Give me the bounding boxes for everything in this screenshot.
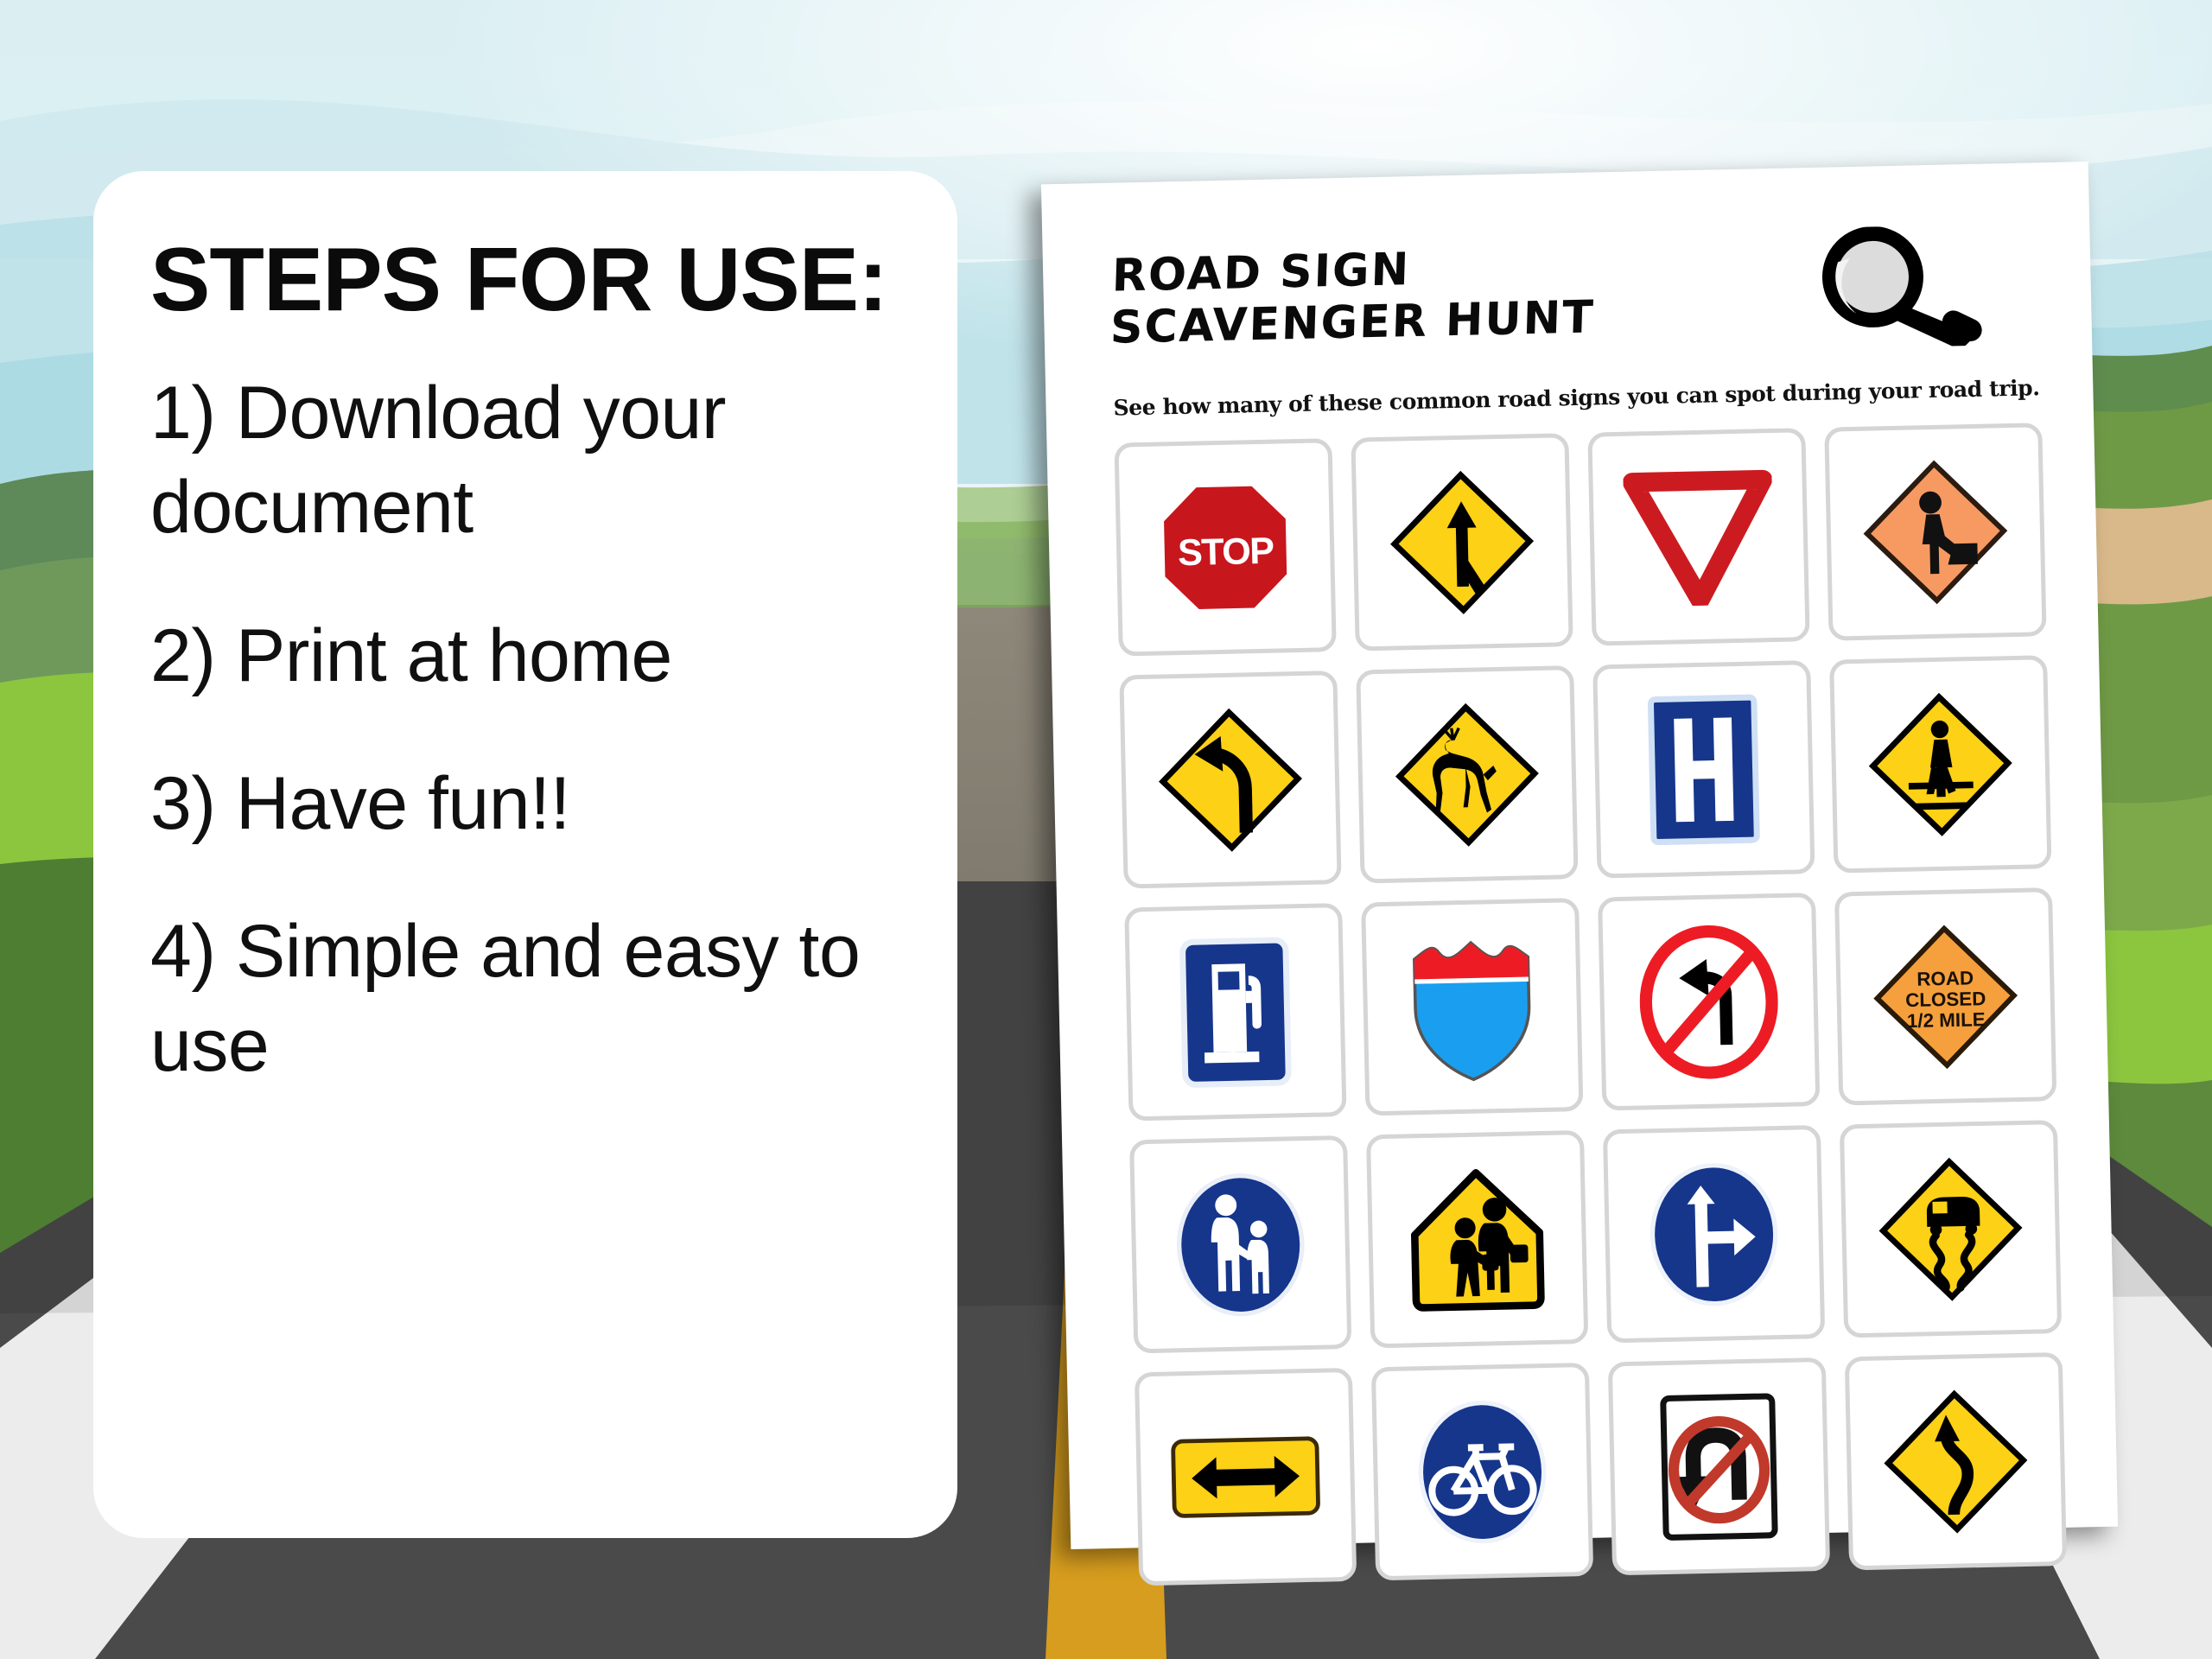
pedestrian-crossing-sign-icon: [1866, 690, 2016, 840]
pedestrian-path-sign-icon: [1170, 1166, 1312, 1322]
sign-cell-road-closed-sign[interactable]: ROAD CLOSED 1/2 MILE: [1834, 887, 2056, 1105]
yield-sign-icon: [1623, 467, 1774, 607]
step-text: 4) Simple and easy to use: [150, 905, 900, 1093]
road-closed-sign-icon: ROAD CLOSED 1/2 MILE: [1870, 920, 2022, 1072]
printable-document[interactable]: ROAD SIGN SCAVENGER HUNT See how many of…: [1041, 162, 2118, 1549]
no-u-turn-sign-icon: [1657, 1389, 1782, 1545]
sign-cell-school-crossing-sign[interactable]: [1366, 1130, 1588, 1348]
road-work-sign-icon: [1859, 456, 2012, 608]
hospital-sign-icon: [1646, 691, 1762, 848]
road-closed-line-1: ROAD: [1916, 967, 1974, 989]
road-closed-line-2: CLOSED: [1905, 988, 1986, 1011]
steps-card: STEPS FOR USE: 1) Download your document…: [93, 171, 957, 1538]
sign-cell-straight-or-right-sign[interactable]: [1603, 1125, 1825, 1343]
straight-or-right-sign-icon: [1643, 1155, 1785, 1312]
sign-cell-two-way-traffic-sign[interactable]: [1135, 1368, 1357, 1586]
sign-cell-hospital-sign[interactable]: [1592, 660, 1815, 878]
sign-cell-gas-station-sign[interactable]: [1124, 903, 1346, 1121]
step-item-3: 3) Have fun!!: [150, 757, 900, 851]
step-item-4: 4) Simple and easy to use: [150, 905, 900, 1093]
bicycle-route-sign-icon: [1412, 1393, 1554, 1549]
sign-cell-deer-crossing-sign[interactable]: [1356, 665, 1578, 883]
document-header: ROAD SIGN SCAVENGER HUNT: [1110, 230, 2041, 379]
document-page: ROAD SIGN SCAVENGER HUNT See how many of…: [1041, 162, 2118, 1549]
no-left-turn-sign-icon: [1638, 924, 1780, 1080]
stop-sign-icon: STOP: [1154, 477, 1295, 618]
sign-grid: STOP: [1114, 423, 2067, 1586]
document-title: ROAD SIGN SCAVENGER HUNT: [1109, 238, 1666, 355]
step-item-2: 2) Print at home: [150, 609, 900, 703]
sign-cell-interstate-shield-sign[interactable]: [1361, 898, 1583, 1116]
page-title: STEPS FOR USE:: [150, 233, 900, 327]
deer-crossing-sign-icon: [1392, 699, 1542, 849]
svg-text:STOP: STOP: [1178, 530, 1274, 573]
sign-cell-curve-left-sign[interactable]: [1119, 671, 1341, 888]
sign-cell-winding-road-sign[interactable]: [1845, 1352, 2067, 1570]
step-text: 1) Download your document: [150, 366, 900, 555]
school-crossing-sign-icon: [1402, 1163, 1554, 1315]
slippery-road-sign-icon: [1876, 1154, 2026, 1304]
step-text: 2) Print at home: [150, 609, 900, 703]
merge-sign-icon: [1387, 467, 1537, 618]
sign-cell-merge-sign[interactable]: [1351, 433, 1573, 651]
curve-left-sign-icon: [1155, 704, 1306, 855]
sign-cell-slippery-road-sign[interactable]: [1840, 1120, 2062, 1338]
winding-road-sign-icon: [1881, 1386, 2031, 1536]
interstate-shield-sign-icon: [1402, 929, 1543, 1085]
sign-cell-pedestrian-crossing-sign[interactable]: [1829, 655, 2051, 873]
road-closed-line-3: 1/2 MILE: [1907, 1008, 1986, 1032]
sign-cell-yield-sign[interactable]: [1587, 428, 1809, 645]
sign-cell-no-u-turn-sign[interactable]: [1608, 1357, 1830, 1575]
gas-station-sign-icon: [1178, 934, 1294, 1090]
sign-cell-road-work-sign[interactable]: [1824, 423, 2046, 640]
step-text: 3) Have fun!!: [150, 757, 900, 851]
sign-cell-pedestrian-path-sign[interactable]: [1129, 1135, 1351, 1353]
magnifying-glass-icon: [1809, 224, 2011, 349]
sign-cell-stop-sign[interactable]: STOP: [1114, 438, 1336, 656]
sign-cell-no-left-turn-sign[interactable]: [1598, 893, 1820, 1110]
sign-cell-bicycle-route-sign[interactable]: [1371, 1363, 1593, 1580]
step-item-1: 1) Download your document: [150, 366, 900, 555]
two-way-traffic-sign-icon: [1169, 1433, 1323, 1520]
document-subtitle: See how many of these common road signs …: [1113, 375, 2041, 420]
